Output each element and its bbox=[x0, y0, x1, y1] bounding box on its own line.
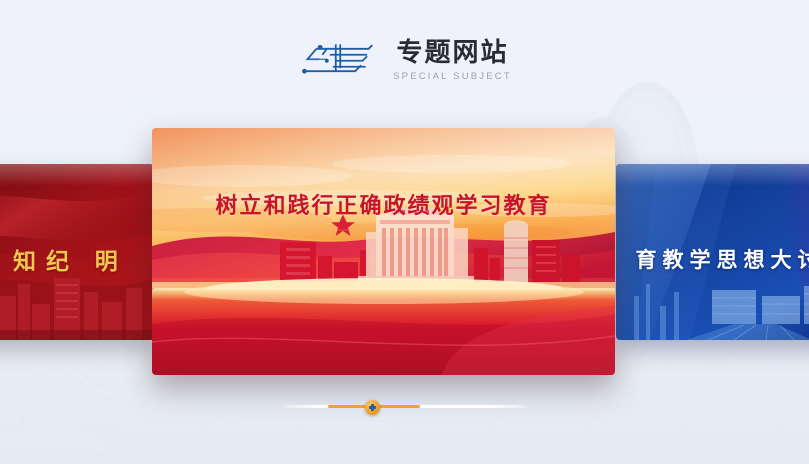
site-title: 专题网站 bbox=[396, 38, 508, 68]
slide-center-artwork bbox=[152, 128, 615, 375]
carousel-slide-center-active[interactable]: 树立和践行正确政绩观学习教育 bbox=[152, 128, 615, 375]
slide-center-title: 树立和践行正确政绩观学习教育 bbox=[152, 188, 615, 220]
slide-right-title: 育教学思想大讨论 bbox=[616, 244, 809, 274]
slider-handle[interactable] bbox=[365, 400, 380, 415]
carousel-slide-left[interactable]: 纪 知纪 明 bbox=[0, 164, 154, 340]
plus-handle-icon bbox=[369, 404, 376, 411]
carousel-slide-right[interactable]: 育教学思想大讨论 bbox=[616, 164, 809, 340]
slide-left-title: 纪 知纪 明 bbox=[0, 242, 154, 276]
page-root: 专题网站 SPECIAL SUBJECT bbox=[0, 0, 809, 464]
carousel-progress-slider[interactable] bbox=[284, 398, 526, 416]
site-subtitle: SPECIAL SUBJECT bbox=[393, 71, 512, 82]
brand-block: 专题网站 SPECIAL SUBJECT bbox=[393, 38, 512, 82]
circuit-monogram-logo-icon bbox=[297, 38, 379, 82]
site-header: 专题网站 SPECIAL SUBJECT bbox=[0, 0, 809, 120]
